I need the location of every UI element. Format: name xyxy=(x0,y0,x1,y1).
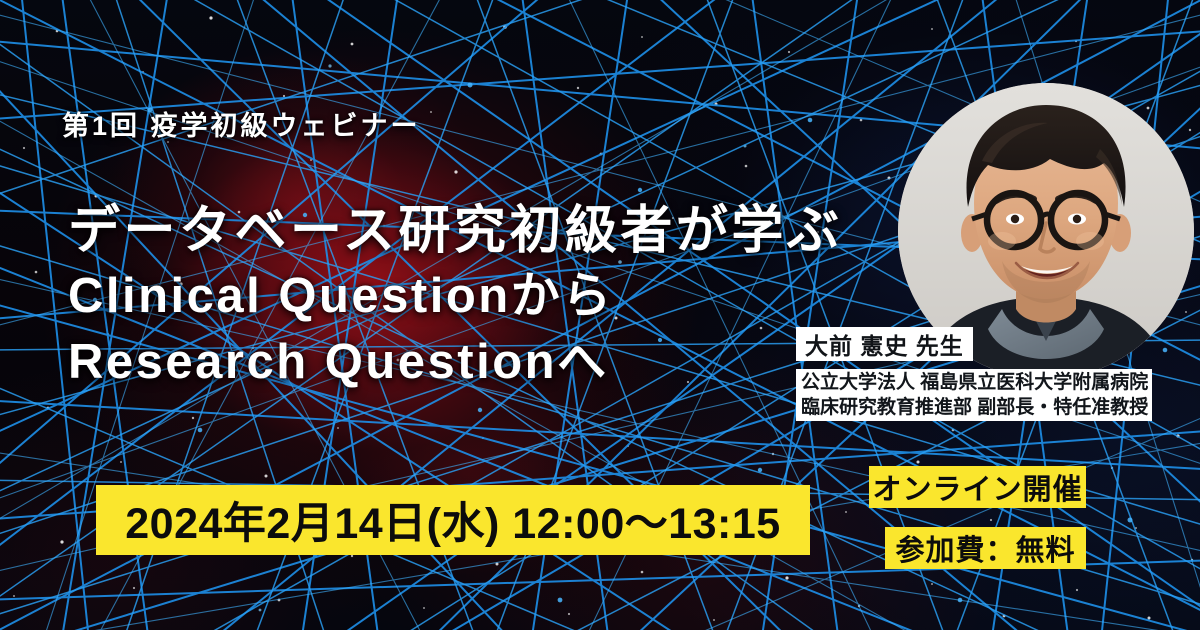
badge-participation-fee: 参加費：無料 xyxy=(885,527,1086,569)
title-line-2: Clinical Questionから xyxy=(68,272,888,321)
page-title: データベース研究初級者が学ぶ Clinical Questionから Resea… xyxy=(68,205,888,387)
title-line-3: Research Questionへ xyxy=(68,338,888,387)
speaker-name-text: 大前 憲史 先生 xyxy=(805,327,964,361)
affiliation-line-2: 臨床研究教育推進部 副部長・特任准教授 xyxy=(801,395,1148,420)
webinar-series-label: 第1回 疫学初級ウェビナー xyxy=(62,104,421,143)
speaker-name: 大前 憲史 先生 xyxy=(796,327,973,361)
badge-online-format: オンライン開催 xyxy=(869,466,1086,508)
affiliation-line-1: 公立大学法人 福島県立医科大学附属病院 xyxy=(801,370,1148,395)
title-line-1: データベース研究初級者が学ぶ xyxy=(68,205,888,257)
webinar-banner: 第1回 疫学初級ウェビナー データベース研究初級者が学ぶ Clinical Qu… xyxy=(0,0,1200,630)
speaker-affiliation: 公立大学法人 福島県立医科大学附属病院 臨床研究教育推進部 副部長・特任准教授 xyxy=(796,369,1152,421)
event-datetime-banner: 2024年2月14日(水) 12:00〜13:15 xyxy=(96,485,810,555)
